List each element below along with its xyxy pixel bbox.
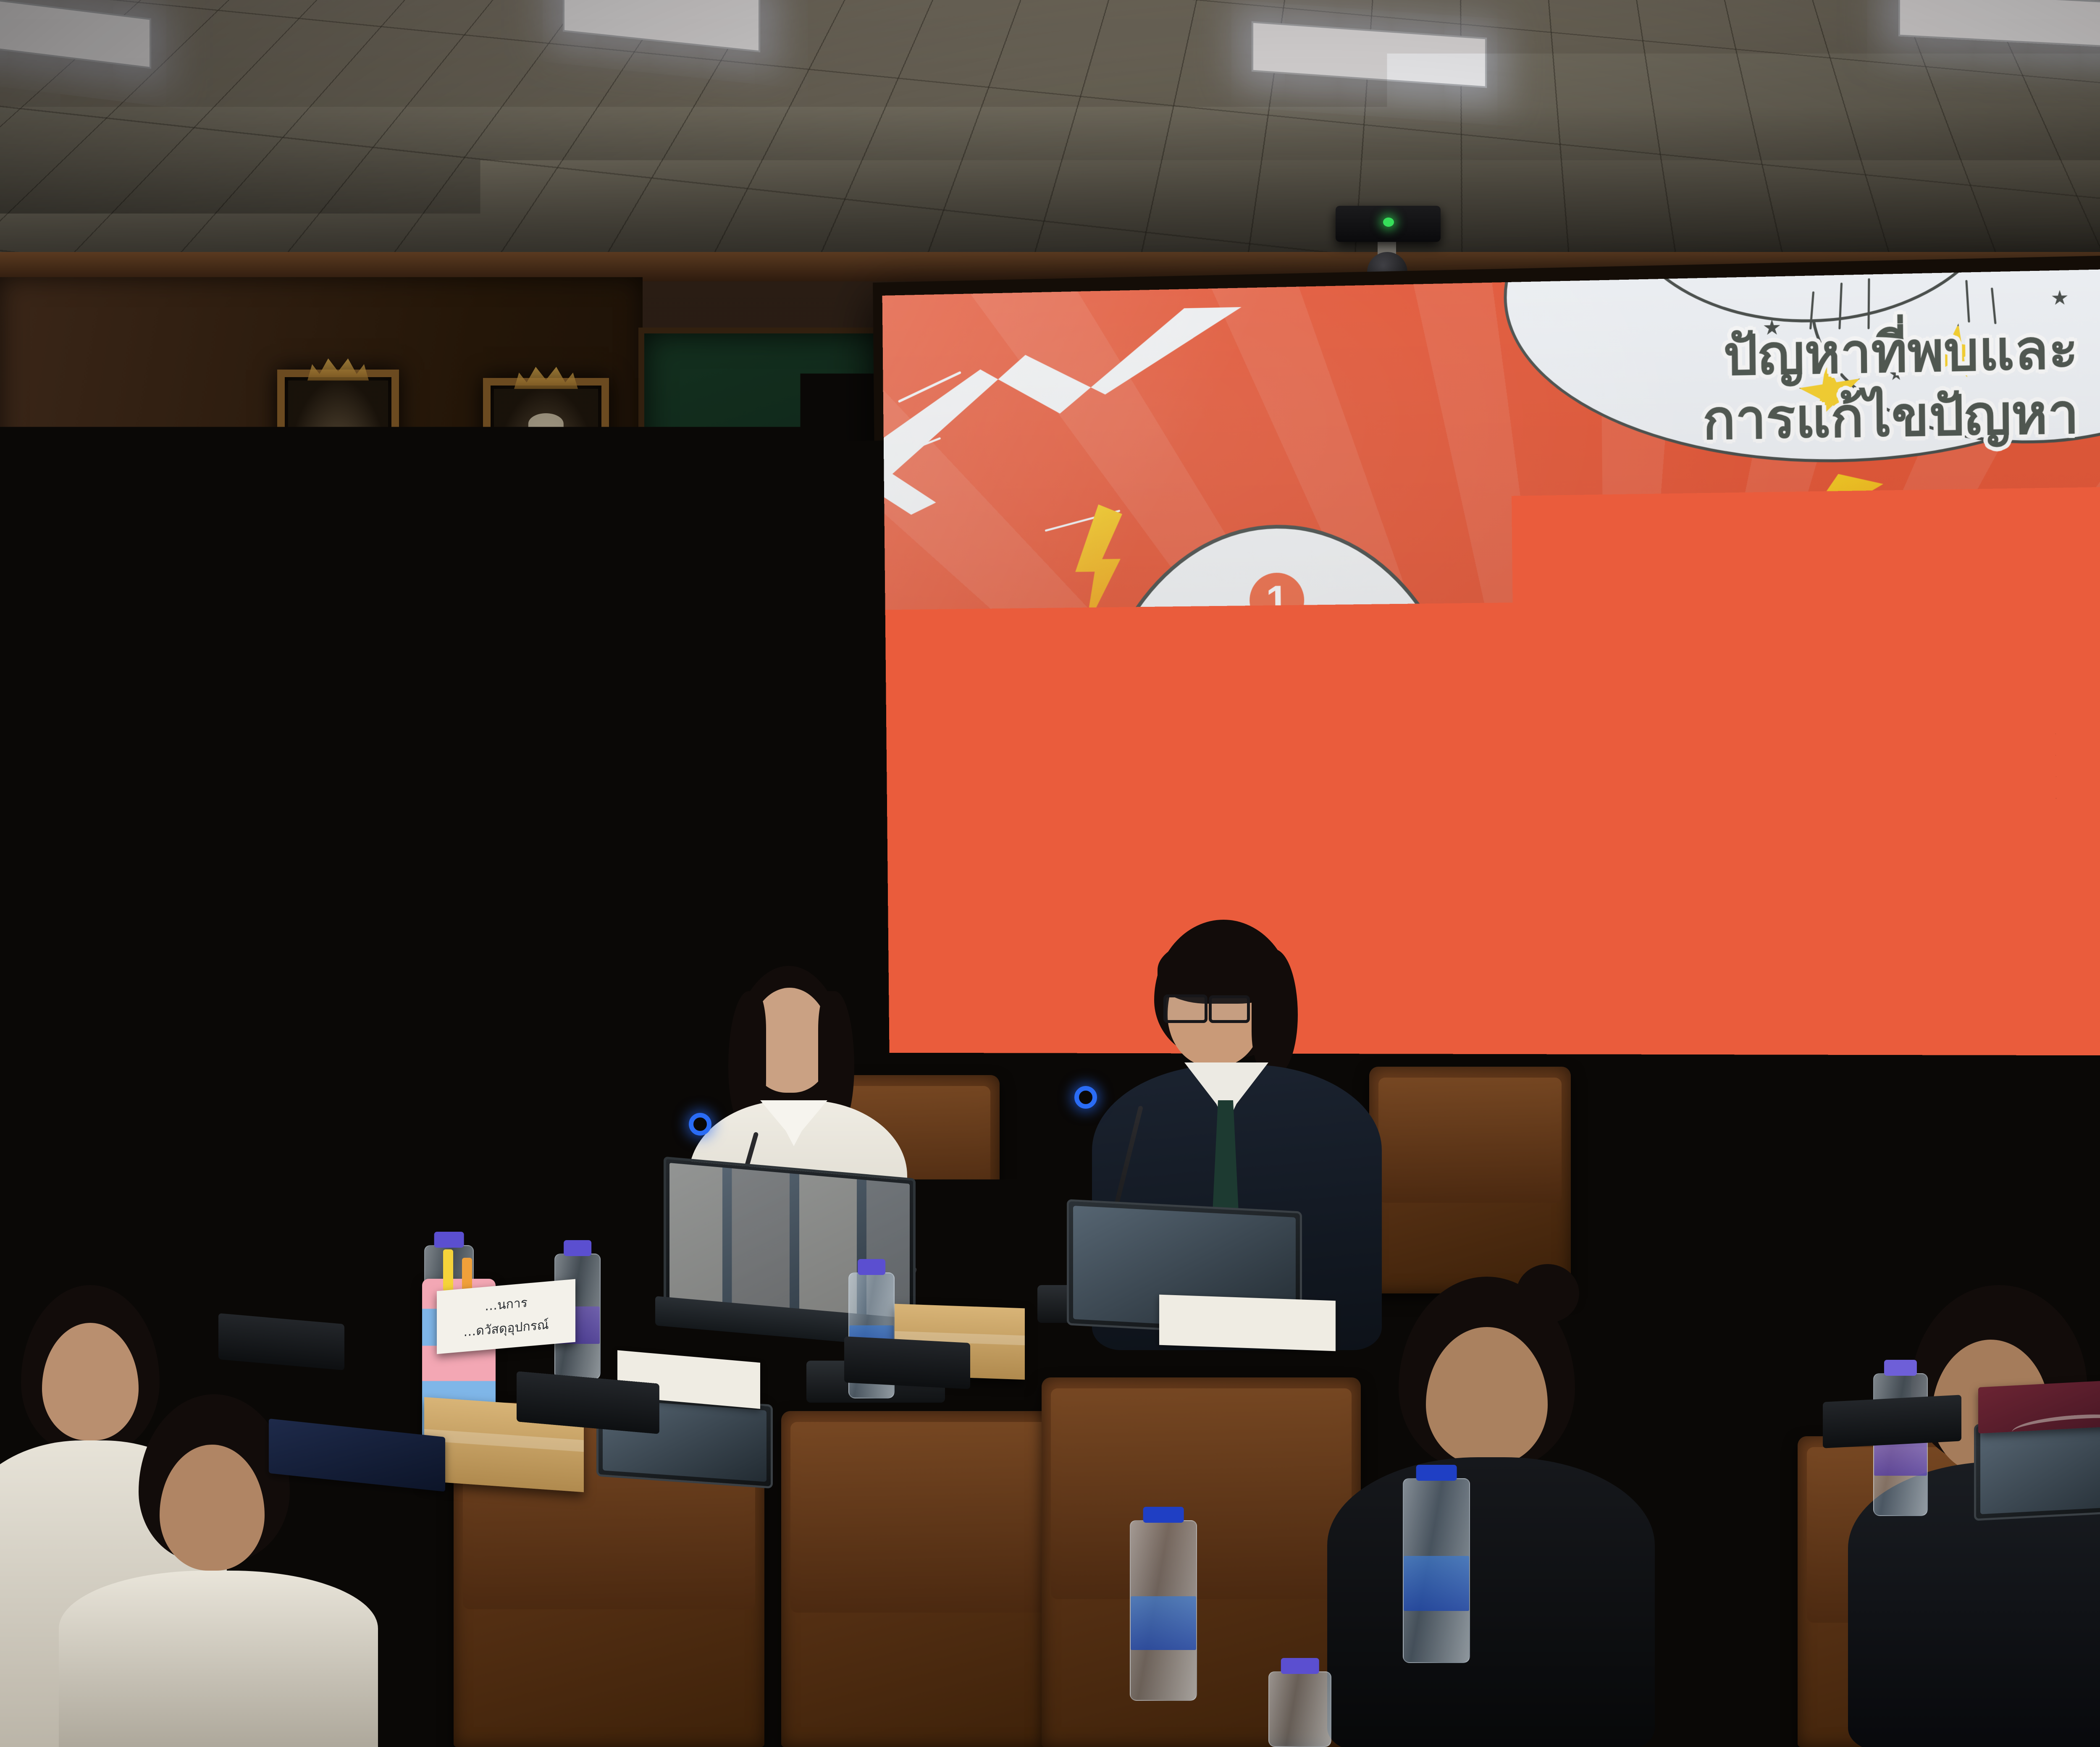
presentation-slide: ปัญหาที่พบและ การแก้ไขปัญหา 1 ผู้เข้าแข่…: [882, 268, 2100, 1055]
presenter-male-glasses: [1163, 994, 1207, 1023]
slide-bubble-1-text: ผู้เข้าแข่งขันสาขาพลศึกษาไม่สะดวกมาเข้าร…: [1092, 635, 1467, 778]
bottle-cap: [858, 1259, 885, 1275]
tumbler-straw: [462, 1258, 472, 1291]
water-bottle: [1268, 1671, 1331, 1747]
presenter-male-glasses: [1209, 995, 1250, 1023]
portrait-figure: [516, 457, 576, 546]
audience-hair-bun: [1516, 1264, 1579, 1323]
water-bottle: [1403, 1478, 1470, 1663]
projector-status-led: [1383, 218, 1394, 227]
bottle-cap: [1416, 1465, 1457, 1481]
desk-control-unit: [1823, 1395, 1961, 1448]
slide-bubble-2-number: 2: [1641, 567, 1697, 624]
tumbler-straw: [443, 1249, 453, 1291]
chair-behind-male-presenter: [1369, 1067, 1571, 1293]
bottle-cap: [434, 1232, 464, 1248]
bottle-label: [503, 1235, 551, 1275]
royal-portrait-left: [277, 370, 399, 550]
ceiling-shadow: [0, 0, 2100, 269]
slideshow-icon[interactable]: [2016, 1014, 2040, 1038]
portrait-cap: [528, 413, 564, 434]
audience-torso: [1327, 1457, 1655, 1747]
next-slide-button[interactable]: ›: [990, 1015, 996, 1034]
bottle-label: [1404, 1556, 1469, 1611]
chair-foreground-center: [781, 1411, 1075, 1747]
flower-arrangement: [0, 865, 160, 1041]
audience-torso: [59, 1571, 378, 1747]
projection-screen: ปัญหาที่พบและ การแก้ไขปัญหา 1 ผู้เข้าแข่…: [882, 268, 2100, 1055]
name-card: …นการ …ดวัสดุอุปกรณ์: [437, 1279, 575, 1354]
portrait-canvas: [494, 389, 598, 552]
slide-viewer-toolbar: ‹ 8 / 11 ›: [889, 992, 2100, 1056]
bottle-cap: [1143, 1507, 1184, 1523]
zoom-icon[interactable]: [1809, 1013, 1833, 1037]
more-options-icon[interactable]: [2067, 1014, 2092, 1038]
microphone-led-ring: [689, 1113, 711, 1136]
flower-leaf: [25, 928, 97, 957]
bottle-cap: [1281, 1658, 1319, 1674]
flower-vase: [38, 955, 101, 1035]
audience-center: [1336, 1277, 1638, 1747]
bottle-cap: [512, 1165, 542, 1180]
bottle-cap: [1884, 1360, 1917, 1376]
slide-toolbar-icons: [1809, 1013, 2092, 1038]
greenboard-left: [638, 328, 895, 924]
pen-annotate-icon[interactable]: [1861, 1013, 1885, 1037]
name-card-line-2: …ดวัสดุอุปกรณ์: [463, 1315, 549, 1342]
slide-bubble-1-number: 1: [1249, 572, 1305, 628]
bottle-label: [1131, 1596, 1196, 1650]
papers-on-table: [1159, 1295, 1336, 1351]
box-tape: [424, 1429, 584, 1452]
desk-control-unit: [844, 1336, 970, 1389]
slide-bubble-2-text: แนวทางแก้ไขบันทึกวิดีโอตลอดวันจัดโครงการ…: [1479, 631, 1864, 776]
flower-petal: [88, 894, 130, 932]
presenter-male-hair-side: [1252, 949, 1298, 1075]
ceiling: [0, 0, 2100, 269]
bottle-cap: [457, 1158, 488, 1174]
conference-room-photo: ปัญหาที่พบและ การแก้ไขปัญหา 1 ผู้เข้าแข่…: [0, 0, 2100, 1747]
name-card-line-1: …นการ: [485, 1293, 528, 1317]
bottle-cap: [564, 1240, 591, 1256]
royal-portrait-right: [483, 378, 609, 563]
portrait-figure: [309, 447, 367, 533]
water-bottle: [1130, 1520, 1197, 1701]
broadcast-icon[interactable]: [1963, 1014, 1988, 1038]
presenter-view-icon[interactable]: [1912, 1013, 1936, 1037]
panel-collapse-button[interactable]: ‹: [2090, 631, 2100, 686]
portrait-canvas: [288, 380, 388, 539]
microphone-led-ring: [1074, 1086, 1097, 1109]
slide-title: ปัญหาที่พบและ การแก้ไขปัญหา: [1284, 317, 2079, 459]
